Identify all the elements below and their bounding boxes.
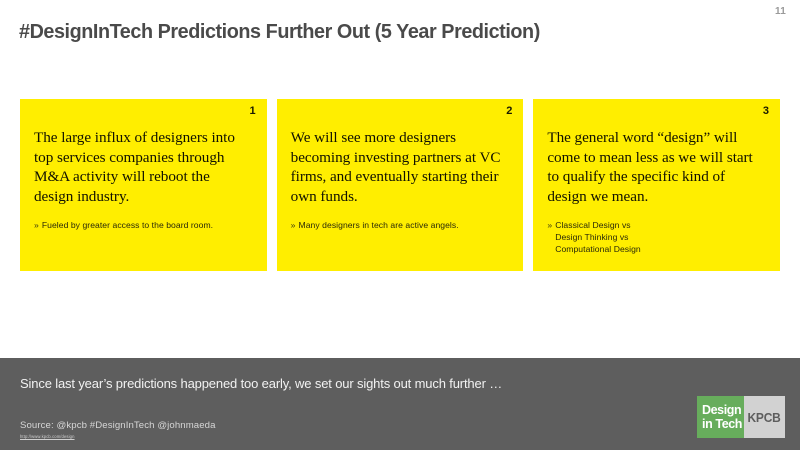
card-number-badge: 3 [763,106,769,117]
prediction-card-1: 1 The large influx of designers into top… [20,99,267,271]
logo-kpcb-text: KPCB [748,410,781,425]
footer-source-credit: Source: @kpcb #DesignInTech @johnmaeda [20,420,216,431]
card-headline: The large influx of designers into top s… [34,128,253,206]
bullet-marker-icon: » [34,220,39,232]
logo-design-line1: Design [702,403,744,417]
prediction-card-3: 3 The general word “design” will come to… [533,99,780,271]
design-in-tech-logo: Design in Tech [697,396,744,438]
bullet-marker-icon: » [547,220,552,232]
logo-design-line2: in Tech [702,417,744,431]
logo-lockup: Design in Tech KPCB [697,396,785,438]
card-headline: We will see more designers becoming inve… [291,128,510,206]
card-headline: The general word “design” will come to m… [547,128,766,206]
prediction-card-2: 2 We will see more designers becoming in… [277,99,524,271]
bullet-marker-icon: » [291,220,296,232]
prediction-card-list: 1 The large influx of designers into top… [20,99,780,271]
card-subbullet-text: Fueled by greater access to the board ro… [42,220,253,232]
footer-bar: Since last year’s predictions happened t… [0,358,800,450]
page-title: #DesignInTech Predictions Further Out (5… [19,20,540,44]
slide-canvas: 11 #DesignInTech Predictions Further Out… [0,0,800,450]
card-subbullet: » Classical Design vs Design Thinking vs… [547,220,766,255]
kpcb-logo: KPCB [744,396,785,438]
card-subbullet: » Many designers in tech are active ange… [291,220,510,232]
page-number: 11 [775,6,786,17]
card-number-badge: 1 [250,106,256,117]
footer-tagline: Since last year’s predictions happened t… [20,376,502,391]
card-subbullet-text: Classical Design vs Design Thinking vs C… [555,220,766,255]
card-number-badge: 2 [506,106,512,117]
card-subbullet: » Fueled by greater access to the board … [34,220,253,232]
footer-source-link[interactable]: http://www.kpcb.com/design [20,434,75,439]
card-subbullet-text: Many designers in tech are active angels… [299,220,510,232]
